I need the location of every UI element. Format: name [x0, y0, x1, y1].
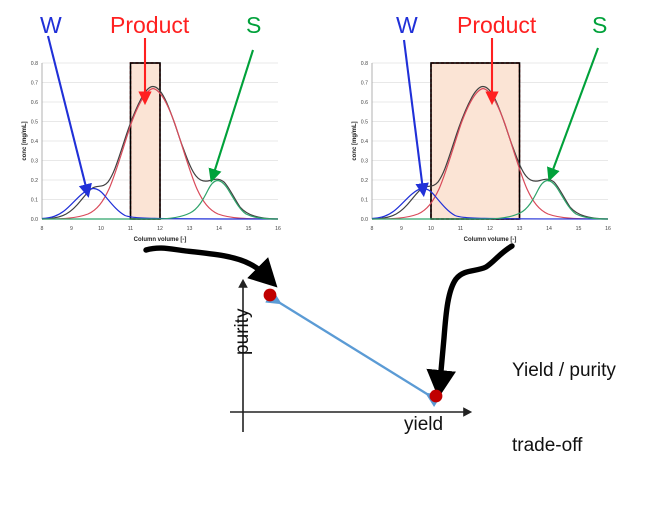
- svg-text:12: 12: [487, 226, 493, 232]
- svg-text:0.5: 0.5: [361, 120, 368, 126]
- figure-canvas: W Product S: [0, 0, 653, 442]
- tradeoff-double-arrow: [280, 303, 427, 394]
- svg-text:0.8: 0.8: [31, 61, 38, 67]
- svg-text:8: 8: [371, 226, 374, 232]
- label-s-right: S: [592, 12, 607, 39]
- svg-text:0.6: 0.6: [31, 100, 38, 106]
- x-tick-labels-right: 89 1011 1213 1415 16: [371, 226, 611, 232]
- annotation-arrow-w-left: [48, 36, 87, 191]
- y-tick-labels-left: 0.80.7 0.60.5 0.40.3 0.20.1 0.0: [31, 61, 38, 223]
- svg-text:11: 11: [458, 226, 463, 232]
- svg-text:0.8: 0.8: [361, 61, 368, 67]
- svg-text:15: 15: [246, 226, 252, 232]
- svg-text:16: 16: [605, 226, 611, 232]
- svg-text:0.2: 0.2: [31, 178, 38, 184]
- svg-text:0.0: 0.0: [31, 217, 38, 223]
- svg-text:0.4: 0.4: [361, 139, 368, 145]
- svg-text:16: 16: [275, 226, 281, 232]
- flow-arrow-right: [440, 246, 512, 382]
- chromatogram-wide-panel: W Product S: [330, 0, 653, 250]
- label-product-right: Product: [457, 12, 536, 39]
- label-product-left: Product: [110, 12, 189, 39]
- svg-text:11: 11: [128, 226, 133, 232]
- svg-text:0.7: 0.7: [31, 81, 38, 87]
- y-tick-labels-right: 0.80.7 0.60.5 0.40.3 0.20.1 0.0: [361, 61, 368, 223]
- svg-text:10: 10: [98, 226, 104, 232]
- label-w-left: W: [40, 12, 62, 39]
- svg-text:0.0: 0.0: [361, 217, 368, 223]
- annotation-arrow-s-right: [551, 48, 598, 175]
- svg-text:0.1: 0.1: [31, 198, 38, 204]
- svg-text:0.1: 0.1: [361, 198, 368, 204]
- svg-text:15: 15: [576, 226, 582, 232]
- x-axis-title-right: Column volume [-]: [464, 237, 517, 243]
- label-s-left: S: [246, 12, 261, 39]
- svg-text:9: 9: [70, 226, 73, 232]
- scatter-x-axis-label: yield: [404, 414, 443, 436]
- svg-text:13: 13: [517, 226, 523, 232]
- collection-window-fill-right: [431, 63, 520, 219]
- svg-text:0.7: 0.7: [361, 81, 368, 87]
- svg-text:0.6: 0.6: [361, 100, 368, 106]
- svg-text:8: 8: [41, 226, 44, 232]
- svg-text:10: 10: [428, 226, 434, 232]
- svg-text:14: 14: [546, 226, 552, 232]
- svg-text:13: 13: [187, 226, 193, 232]
- svg-text:0.2: 0.2: [361, 178, 368, 184]
- svg-text:0.4: 0.4: [31, 139, 38, 145]
- scatter-y-axis-label: purity: [232, 309, 254, 355]
- data-point-high-yield[interactable]: [430, 390, 443, 403]
- tradeoff-caption-line1: Yield / purity: [512, 358, 616, 383]
- tradeoff-caption: Yield / purity trade-off: [512, 308, 616, 508]
- flow-arrow-left: [146, 248, 266, 276]
- x-axis-title-left: Column volume [-]: [134, 237, 187, 243]
- label-w-right: W: [396, 12, 418, 39]
- svg-text:12: 12: [157, 226, 163, 232]
- tradeoff-caption-line2: trade-off: [512, 433, 616, 458]
- svg-text:0.3: 0.3: [31, 159, 38, 165]
- annotation-arrow-s-left: [213, 50, 253, 176]
- y-axis-title-left: conc [mg/mL]: [22, 121, 28, 160]
- svg-text:0.5: 0.5: [31, 120, 38, 126]
- x-tick-labels-left: 89 1011 1213 1415 16: [41, 226, 281, 232]
- data-point-high-purity[interactable]: [264, 289, 277, 302]
- chromatogram-narrow-panel: W Product S: [0, 0, 330, 250]
- svg-text:14: 14: [216, 226, 222, 232]
- svg-text:0.3: 0.3: [361, 159, 368, 165]
- y-axis-title-right: conc [mg/mL]: [352, 121, 358, 160]
- svg-text:9: 9: [400, 226, 403, 232]
